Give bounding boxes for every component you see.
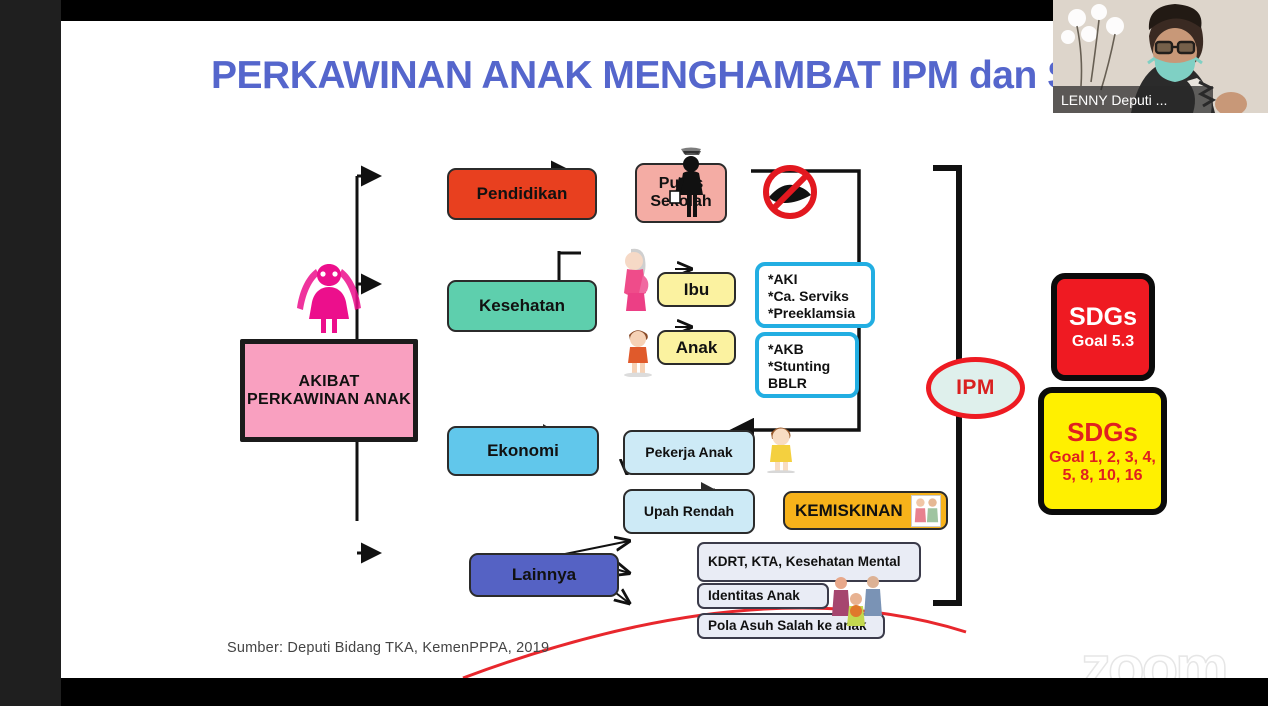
other-box-identitas-anak: Identitas Anak [697, 583, 829, 609]
category-box-lainnya: Lainnya [469, 553, 619, 597]
no-school-prohibition-icon [761, 163, 819, 221]
economy-box-pekerja-anak: Pekerja Anak [623, 430, 755, 475]
girl-bride-icon [293, 261, 365, 337]
health-box-ibu: Ibu [657, 272, 736, 307]
category-box-pendidikan: Pendidikan [447, 168, 597, 220]
root-box-akibat-perkawinan-anak: AKIBAT PERKAWINAN ANAK [240, 339, 418, 442]
zoom-meeting-screen: PERKAWINAN ANAK MENGHAMBAT IPM dan S AKI… [0, 0, 1268, 706]
source-attribution: Sumber: Deputi Bidang TKA, KemenPPPA, 20… [227, 640, 549, 656]
category-box-ekonomi: Ekonomi [447, 426, 599, 476]
sdg-card-goal-5-3: SDGs Goal 5.3 [1051, 273, 1155, 381]
family-conflict-icon [829, 573, 885, 631]
child-boy-icon [621, 325, 655, 377]
student-with-bag-icon [669, 147, 713, 219]
slide-title: PERKAWINAN ANAK MENGHAMBAT IPM dan S [211, 54, 1171, 98]
outcome-box-maternal: *AKI *Ca. Serviks *Preeklamsia [755, 262, 875, 328]
other-box-kdrt: KDRT, KTA, Kesehatan Mental [697, 542, 921, 582]
participant-name-label: LENNY Deputi ... [1053, 86, 1213, 113]
ipm-ellipse: IPM [926, 357, 1025, 419]
sdg-yellow-title: SDGs [1067, 418, 1138, 447]
participant-video-tile[interactable]: LENNY Deputi ... [1053, 0, 1268, 113]
letterbox-bottom [61, 678, 1268, 706]
sdg-card-multi-goals: SDGs Goal 1, 2, 3, 4, 5, 8, 10, 16 [1038, 387, 1167, 515]
zoom-watermark: zoom [1081, 633, 1226, 678]
economy-box-upah-rendah: Upah Rendah [623, 489, 755, 534]
sdg-red-sub: Goal 5.3 [1072, 333, 1134, 351]
outcome-box-child: *AKB *Stunting BBLR [755, 332, 859, 398]
health-box-anak: Anak [657, 330, 736, 365]
category-box-kesehatan: Kesehatan [447, 280, 597, 332]
poor-family-icon [911, 495, 941, 527]
sdg-red-title: SDGs [1069, 303, 1137, 331]
kemiskinan-label: KEMISKINAN [795, 501, 903, 520]
economy-box-kemiskinan: KEMISKINAN [783, 491, 948, 530]
sdg-yellow-sub: Goal 1, 2, 3, 4, 5, 8, 10, 16 [1044, 449, 1161, 485]
presentation-slide: PERKAWINAN ANAK MENGHAMBAT IPM dan S AKI… [61, 21, 1268, 678]
working-child-icon [763, 421, 801, 473]
pregnant-mother-icon [617, 247, 655, 313]
